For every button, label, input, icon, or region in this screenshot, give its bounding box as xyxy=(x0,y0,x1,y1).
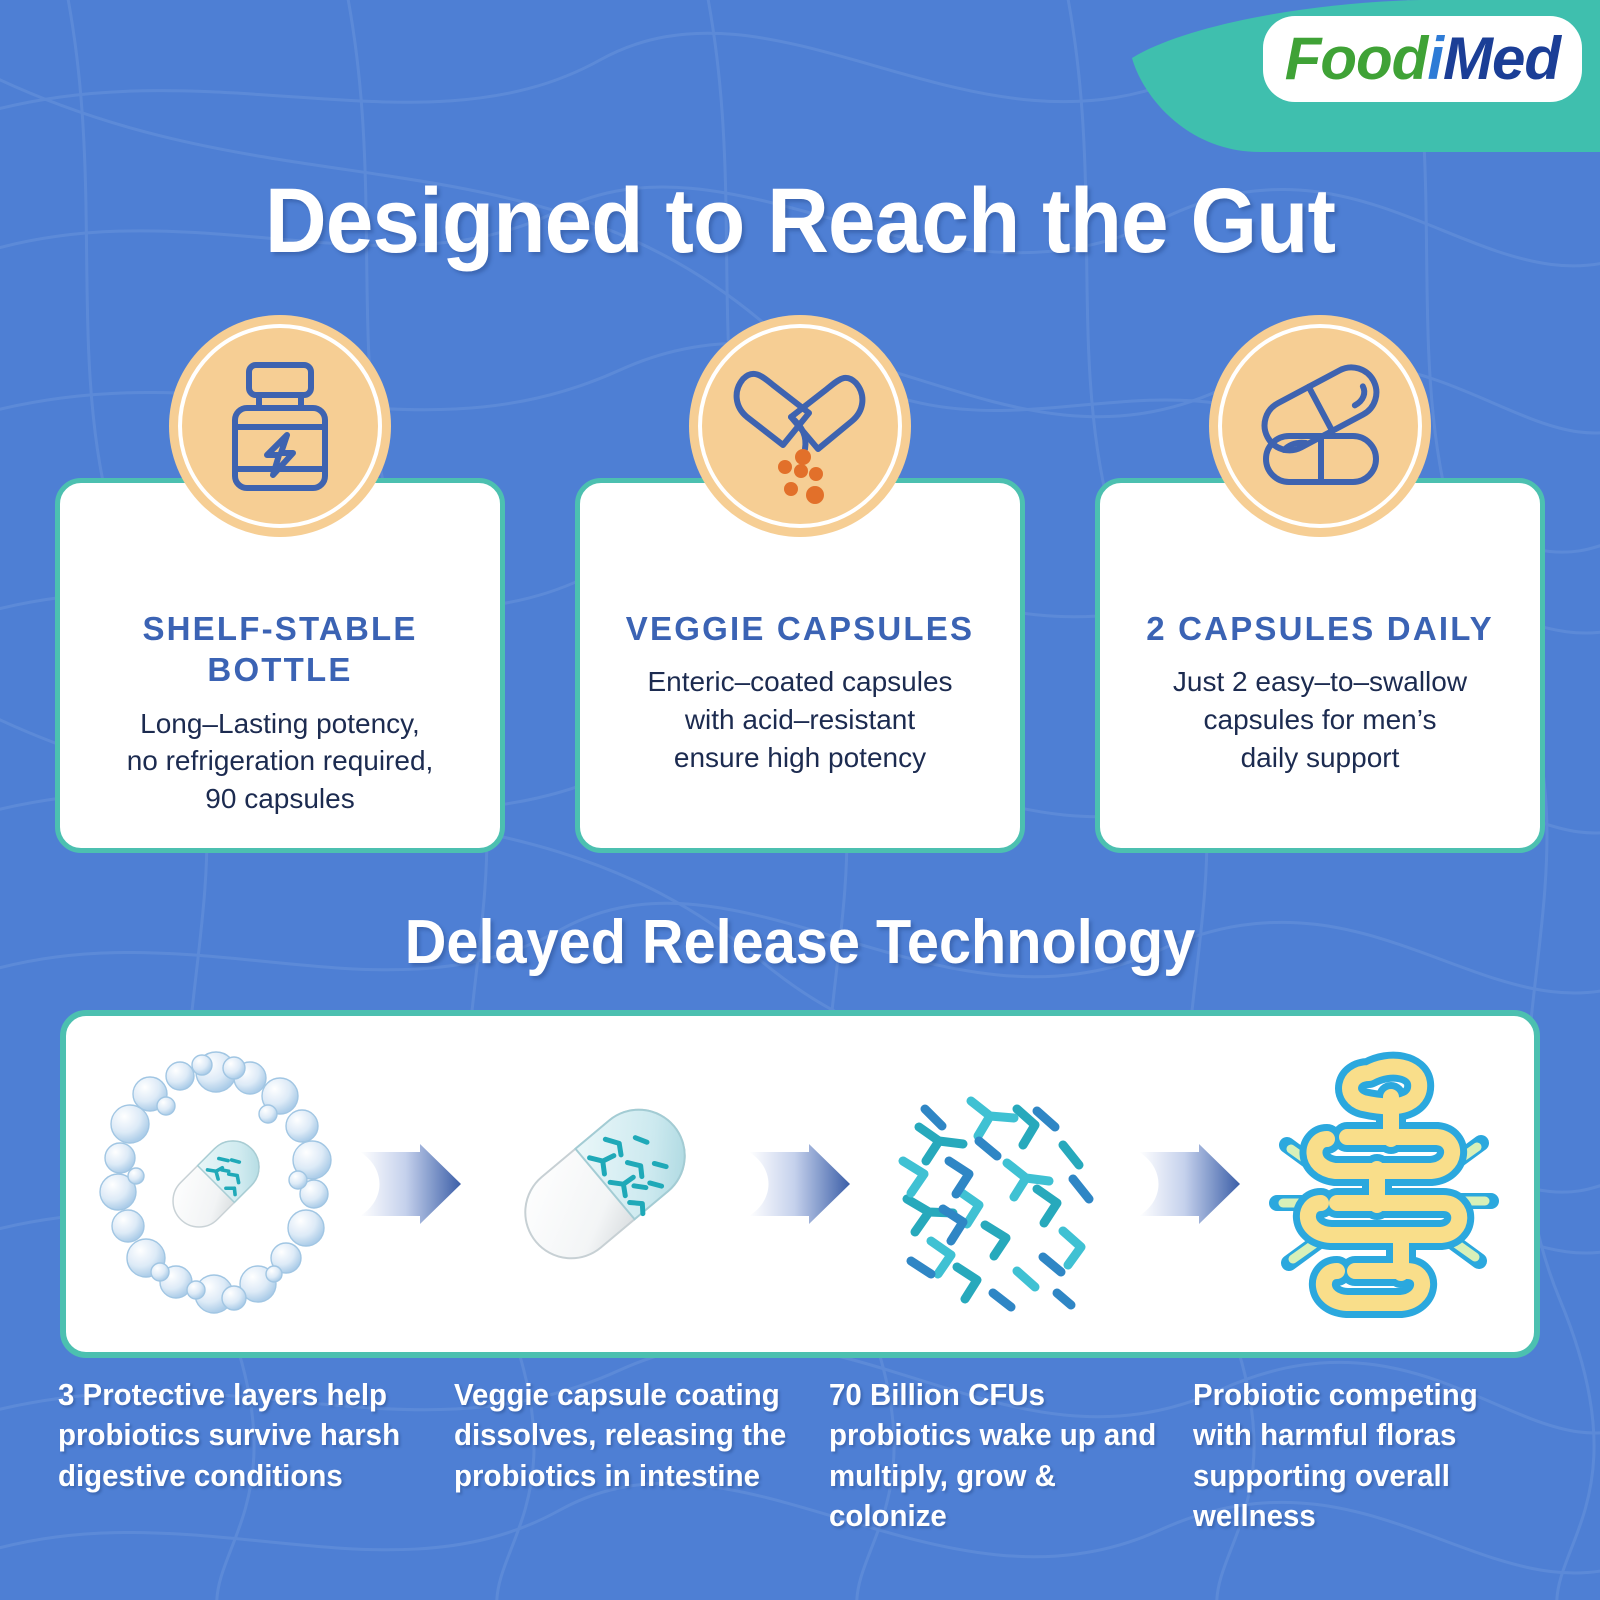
intestine-illustration xyxy=(1248,1034,1520,1334)
feature-card-row: SHELF-STABLE BOTTLE Long–Lasting potency… xyxy=(55,478,1545,858)
open-capsule-granules-icon xyxy=(689,315,911,537)
feature-card-2-capsules-daily[interactable]: 2 CAPSULES DAILY Just 2 easy–to–swallow … xyxy=(1095,478,1545,853)
capsule-in-bubble-ring-illustration xyxy=(80,1034,352,1334)
logo-text-food: Food xyxy=(1285,29,1428,89)
process-caption: 3 Protective layers help probiotics surv… xyxy=(58,1375,434,1575)
page-title: Designed to Reach the Gut xyxy=(56,175,1544,267)
feature-card-body: Enteric–coated capsules with acid–resist… xyxy=(598,663,1002,776)
process-caption: Veggie capsule coating dissolves, releas… xyxy=(454,1375,810,1575)
process-caption-row: 3 Protective layers help probiotics surv… xyxy=(58,1375,1558,1575)
capsule-with-probiotics-illustration xyxy=(469,1034,741,1334)
feature-card-shelf-stable-bottle[interactable]: SHELF-STABLE BOTTLE Long–Lasting potency… xyxy=(55,478,505,853)
delayed-release-panel xyxy=(60,1010,1540,1358)
probiotic-bacteria-cluster-illustration xyxy=(859,1034,1131,1334)
feature-card-veggie-capsules[interactable]: VEGGIE CAPSULES Enteric–coated capsules … xyxy=(575,478,1025,853)
arrow-right-icon xyxy=(742,1124,857,1244)
arrow-right-icon xyxy=(1132,1124,1247,1244)
feature-card-title: 2 CAPSULES DAILY xyxy=(1114,608,1526,649)
feature-card-body: Just 2 easy–to–swallow capsules for men’… xyxy=(1118,663,1522,776)
infographic-canvas: Food i Med Designed to Reach the Gut SHE… xyxy=(0,0,1600,1600)
feature-card-body: Long–Lasting potency, no refrigeration r… xyxy=(78,705,482,818)
brand-logo[interactable]: Food i Med xyxy=(1269,22,1576,96)
arrow-right-icon xyxy=(353,1124,468,1244)
feature-card-title: SHELF-STABLE BOTTLE xyxy=(74,608,486,691)
supplement-bottle-icon xyxy=(169,315,391,537)
process-caption: 70 Billion CFUs probiotics wake up and m… xyxy=(829,1375,1174,1575)
logo-text-med: Med xyxy=(1443,29,1560,89)
process-caption: Probiotic competing with harmful floras … xyxy=(1193,1375,1540,1575)
two-capsules-icon xyxy=(1209,315,1431,537)
section-title: Delayed Release Technology xyxy=(56,912,1544,974)
feature-card-title: VEGGIE CAPSULES xyxy=(594,608,1006,649)
logo-text-i: i xyxy=(1427,29,1443,89)
